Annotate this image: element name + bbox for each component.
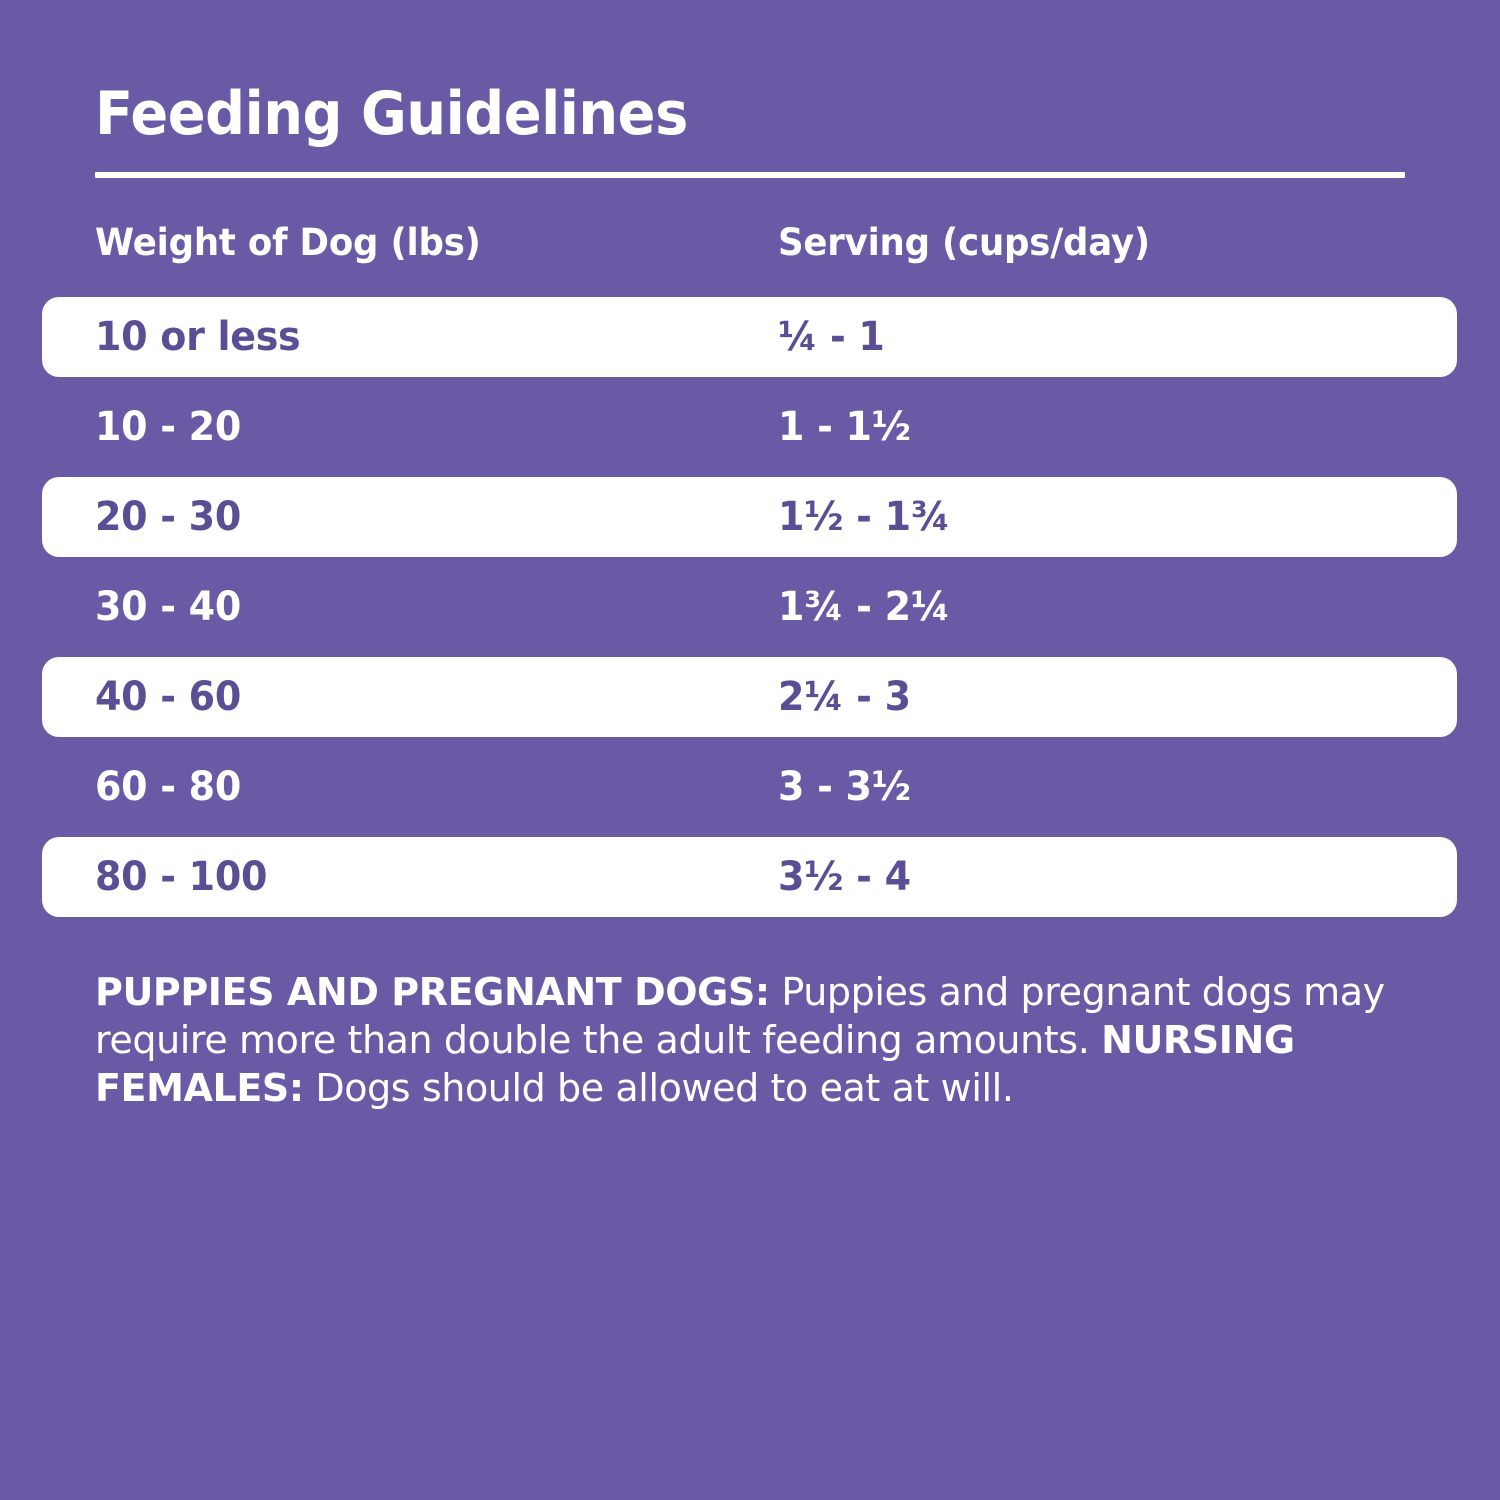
cell-weight: 20 - 30	[95, 477, 715, 557]
note-text-nursing: Dogs should be allowed to eat at will.	[304, 1066, 1014, 1110]
cell-serving-text: 1½ - 1¾	[778, 494, 950, 540]
cell-serving: ¼ - 1	[778, 297, 1398, 377]
table-row: 30 - 40 1¾ - 2¼	[0, 567, 1500, 647]
cell-serving: 1 - 1½	[778, 387, 1398, 467]
cell-serving-text: ¼ - 1	[778, 314, 885, 360]
table-row: 60 - 80 3 - 3½	[0, 747, 1500, 827]
column-header-serving: Serving (cups/day)	[778, 218, 1150, 268]
cell-serving: 1½ - 1¾	[778, 477, 1398, 557]
column-header-weight: Weight of Dog (lbs)	[95, 218, 481, 268]
table-row: 10 or less ¼ - 1	[0, 297, 1500, 377]
feeding-guidelines-panel: Feeding Guidelines Weight of Dog (lbs) S…	[0, 0, 1500, 1500]
cell-weight-text: 40 - 60	[95, 674, 241, 720]
cell-weight-text: 60 - 80	[95, 764, 241, 810]
title-divider	[95, 172, 1405, 178]
cell-weight-text: 20 - 30	[95, 494, 241, 540]
table-column-headers: Weight of Dog (lbs) Serving (cups/day)	[0, 218, 1500, 280]
cell-weight: 10 or less	[95, 297, 715, 377]
cell-weight-text: 80 - 100	[95, 854, 267, 900]
table-row: 40 - 60 2¼ - 3	[0, 657, 1500, 737]
cell-weight: 60 - 80	[95, 747, 715, 827]
table-row: 80 - 100 3½ - 4	[0, 837, 1500, 917]
note-label-puppies: PUPPIES AND PREGNANT DOGS:	[95, 970, 770, 1014]
cell-weight: 40 - 60	[95, 657, 715, 737]
cell-weight: 10 - 20	[95, 387, 715, 467]
cell-serving: 3½ - 4	[778, 837, 1398, 917]
cell-serving-text: 3½ - 4	[778, 854, 911, 900]
cell-serving: 3 - 3½	[778, 747, 1398, 827]
cell-weight: 30 - 40	[95, 567, 715, 647]
cell-weight-text: 30 - 40	[95, 584, 241, 630]
cell-serving: 1¾ - 2¼	[778, 567, 1398, 647]
cell-serving: 2¼ - 3	[778, 657, 1398, 737]
page-title: Feeding Guidelines	[95, 78, 1323, 150]
table-row: 10 - 20 1 - 1½	[0, 387, 1500, 467]
cell-serving-text: 1¾ - 2¼	[778, 584, 950, 630]
feeding-table: 10 or less ¼ - 1 10 - 20 1 - 1½ 20 - 30 …	[0, 297, 1500, 927]
cell-weight: 80 - 100	[95, 837, 715, 917]
cell-serving-text: 2¼ - 3	[778, 674, 911, 720]
cell-weight-text: 10 - 20	[95, 404, 241, 450]
feeding-note: PUPPIES AND PREGNANT DOGS: Puppies and p…	[95, 968, 1440, 1112]
table-row: 20 - 30 1½ - 1¾	[0, 477, 1500, 557]
cell-serving-text: 1 - 1½	[778, 404, 911, 450]
cell-weight-text: 10 or less	[95, 314, 300, 360]
cell-serving-text: 3 - 3½	[778, 764, 911, 810]
